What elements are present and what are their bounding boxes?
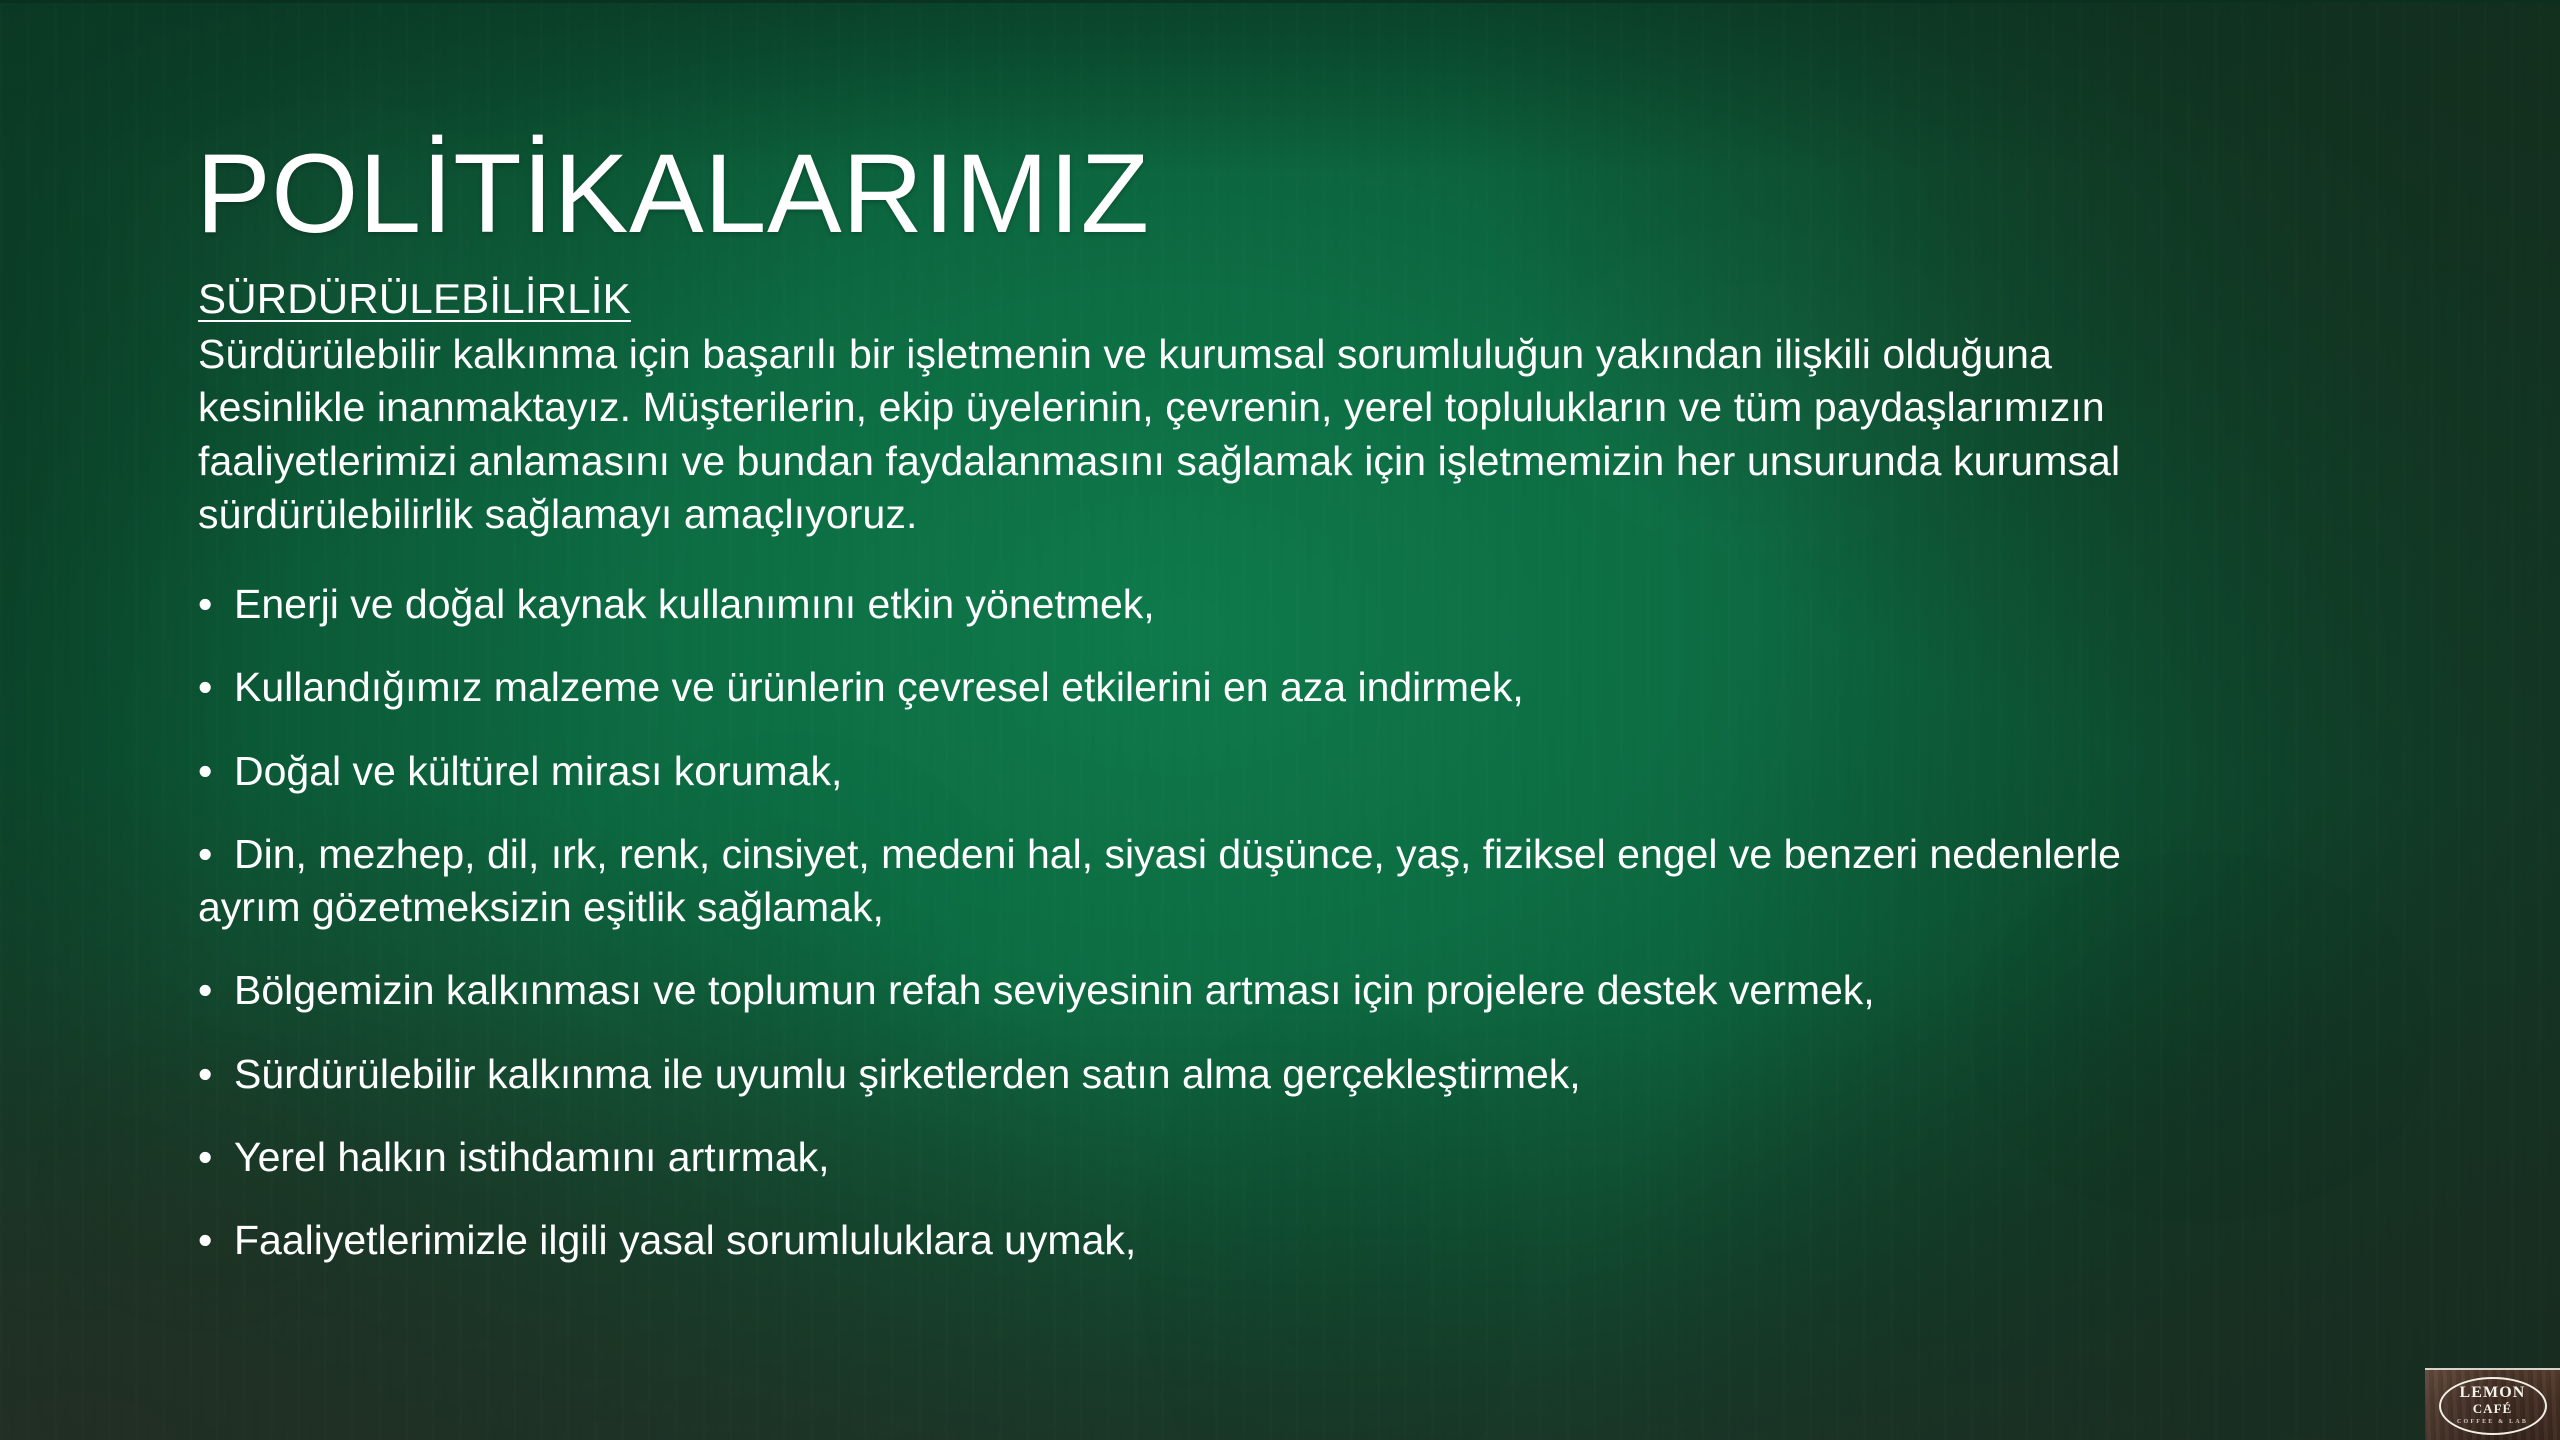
list-item-text-continued: ayrım gözetmeksizin eşitlik sağlamak, (198, 881, 2403, 934)
list-item: •Faaliyetlerimizle ilgili yasal sorumlul… (198, 1214, 2403, 1267)
page-title: POLİTİKALARIMIZ (196, 135, 1149, 253)
list-item: •Din, mezhep, dil, ırk, renk, cinsiyet, … (198, 828, 2403, 935)
policy-bullet-list: •Enerji ve doğal kaynak kullanımını etki… (198, 578, 2403, 1298)
list-item: •Doğal ve kültürel mirası korumak, (198, 745, 2403, 798)
list-item-text: Kullandığımız malzeme ve ürünlerin çevre… (234, 664, 1524, 710)
bullet-marker-icon: • (198, 1131, 234, 1184)
intro-paragraph-line: faaliyetlerimizi anlamasını ve bundan fa… (198, 435, 2403, 488)
list-item-text: Sürdürülebilir kalkınma ile uyumlu şirke… (234, 1051, 1581, 1097)
bullet-marker-icon: • (198, 578, 234, 631)
logo-name-bottom: CAFÉ (2473, 1402, 2512, 1416)
intro-paragraph-line: sürdürülebilirlik sağlamayı amaçlıyoruz. (198, 488, 2403, 541)
intro-paragraph-line: kesinlikle inanmaktayız. Müşterilerin, e… (198, 381, 2403, 434)
logo-tagline: COFFEE & LAB (2457, 1419, 2528, 1425)
bullet-marker-icon: • (198, 661, 234, 714)
list-item-text: Faaliyetlerimizle ilgili yasal sorumlulu… (234, 1217, 1136, 1263)
intro-paragraph: Sürdürülebilir kalkınma için başarılı bi… (198, 328, 2403, 541)
bullet-marker-icon: • (198, 1214, 234, 1267)
list-item-text: Yerel halkın istihdamını artırmak, (234, 1134, 830, 1180)
list-item-text: Enerji ve doğal kaynak kullanımını etkin… (234, 581, 1155, 627)
section-heading: SÜRDÜRÜLEBİLİRLİK (198, 275, 631, 323)
list-item: •Yerel halkın istihdamını artırmak, (198, 1131, 2403, 1184)
list-item: •Enerji ve doğal kaynak kullanımını etki… (198, 578, 2403, 631)
intro-paragraph-line: Sürdürülebilir kalkınma için başarılı bi… (198, 328, 2403, 381)
lemon-cafe-logo: LEMON CAFÉ COFFEE & LAB (2425, 1368, 2560, 1440)
logo-name-top: LEMON (2460, 1385, 2526, 1401)
presentation-slide: POLİTİKALARIMIZ SÜRDÜRÜLEBİLİRLİK Sürdür… (0, 0, 2560, 1440)
list-item: •Bölgemizin kalkınması ve toplumun refah… (198, 964, 2403, 1017)
list-item-text: Bölgemizin kalkınması ve toplumun refah … (234, 967, 1875, 1013)
logo-oval-frame: LEMON CAFÉ COFFEE & LAB (2439, 1377, 2547, 1435)
slide-content: POLİTİKALARIMIZ SÜRDÜRÜLEBİLİRLİK Sürdür… (196, 0, 2446, 1440)
bullet-marker-icon: • (198, 745, 234, 798)
list-item-text: Din, mezhep, dil, ırk, renk, cinsiyet, m… (234, 831, 2121, 877)
list-item: •Kullandığımız malzeme ve ürünlerin çevr… (198, 661, 2403, 714)
bullet-marker-icon: • (198, 828, 234, 881)
bullet-marker-icon: • (198, 1048, 234, 1101)
list-item-text: Doğal ve kültürel mirası korumak, (234, 748, 842, 794)
list-item: •Sürdürülebilir kalkınma ile uyumlu şirk… (198, 1048, 2403, 1101)
bullet-marker-icon: • (198, 964, 234, 1017)
